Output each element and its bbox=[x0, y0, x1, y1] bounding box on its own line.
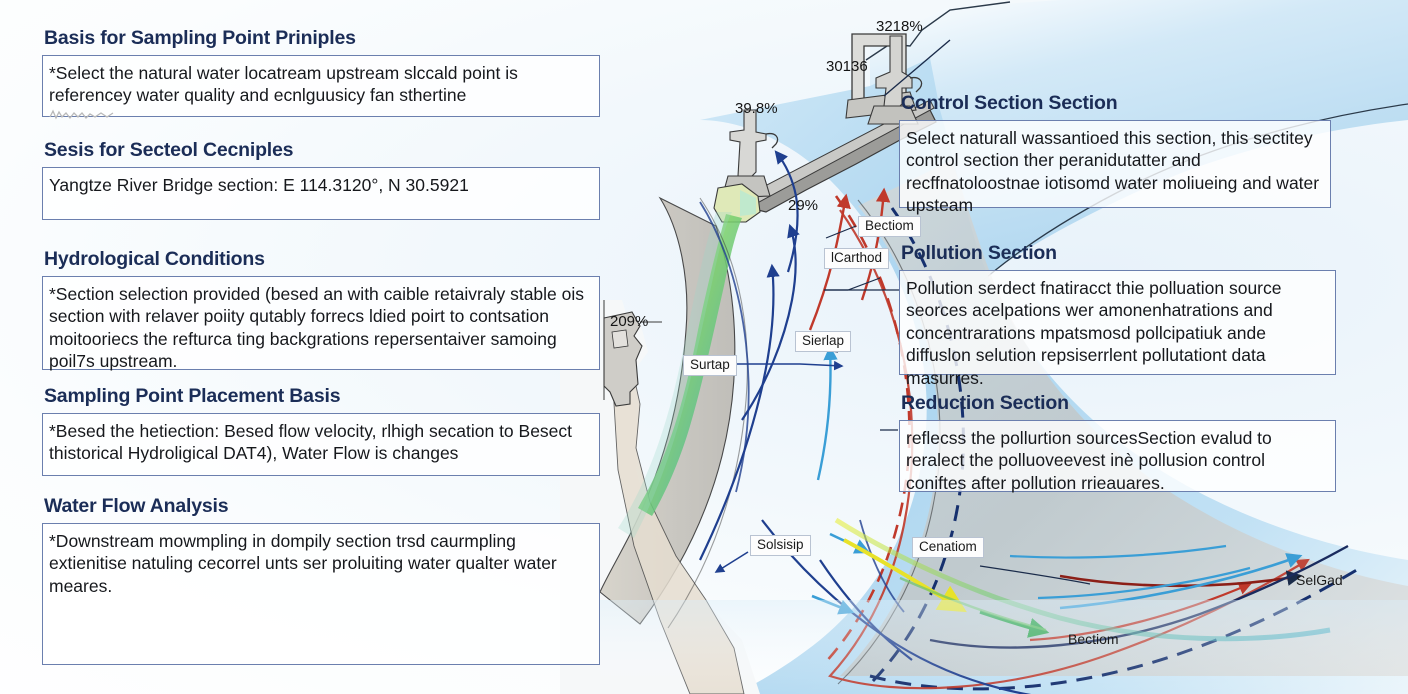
leader-surtap bbox=[736, 364, 842, 366]
callout-label-1: lCarthod bbox=[824, 248, 889, 269]
leader-icarthod bbox=[824, 278, 880, 290]
panel-body-text: Yangtze River Bridge section: E 114.3120… bbox=[49, 174, 590, 196]
panel-hydrological-conditions: Hydrological Conditions *Section selecti… bbox=[42, 248, 600, 370]
panel-body-box: *Downstream mowmpling in dompily section… bbox=[42, 523, 600, 665]
plain-label-0: SelGad bbox=[1296, 572, 1343, 588]
plain-label-1: Bectiom bbox=[1068, 631, 1119, 647]
callout-label-3: Surtap bbox=[683, 355, 737, 376]
panel-heading: Sesis for Secteol Cecniples bbox=[44, 139, 600, 162]
panel-body-box: Yangtze River Bridge section: E 114.3120… bbox=[42, 167, 600, 220]
panel-heading: Hydrological Conditions bbox=[44, 248, 600, 271]
diagram-page: 3218%3013639.8%29%209% BectiomlCarthodSi… bbox=[0, 0, 1408, 694]
panel-body-text: Select naturall wassantioed this section… bbox=[906, 127, 1321, 217]
panel-sampling-point-principles: Basis for Sampling Point Priniples *Sele… bbox=[42, 27, 600, 117]
callout-label-2: Sierlap bbox=[795, 331, 851, 352]
panel-water-flow-analysis: Water Flow Analysis *Downstream mowmplin… bbox=[42, 495, 600, 665]
panel-sampling-point-placement-basis: Sampling Point Placement Basis *Besed th… bbox=[42, 385, 600, 476]
callout-label-5: Cenatiom bbox=[912, 537, 984, 558]
panel-body-box: Select naturall wassantioed this section… bbox=[899, 120, 1331, 208]
panel-body-text: *Section selection provided (besed an wi… bbox=[49, 283, 590, 373]
panel-heading: Control Section Section bbox=[901, 92, 1331, 115]
panel-heading: Basis for Sampling Point Priniples bbox=[44, 27, 600, 50]
panel-body-box: *Besed the hetiection: Besed flow veloci… bbox=[42, 413, 600, 476]
bottom-haze bbox=[600, 600, 1408, 694]
panel-body-box: *Section selection provided (besed an wi… bbox=[42, 276, 600, 370]
panel-heading: Sampling Point Placement Basis bbox=[44, 385, 600, 408]
panel-body-box: Pollution serdect fnatiracct thie pollua… bbox=[899, 270, 1336, 375]
leader-solsisip bbox=[716, 552, 748, 572]
numeric-label-0: 3218% bbox=[876, 18, 923, 35]
left-structure-inner bbox=[612, 330, 628, 348]
panel-reduction-section: Reduction Section reflecss the pollurtio… bbox=[899, 392, 1336, 492]
panel-heading: Water Flow Analysis bbox=[44, 495, 600, 518]
panel-heading: Pollution Section bbox=[901, 242, 1336, 265]
panel-body-text: reflecss the pollurtion sourcesSection e… bbox=[906, 427, 1326, 494]
numeric-label-2: 39.8% bbox=[735, 100, 778, 117]
numeric-label-4: 209% bbox=[610, 313, 648, 330]
panel-body-box: *Select the natural water locatream upst… bbox=[42, 55, 600, 117]
callout-label-0: Bectiom bbox=[858, 216, 921, 237]
handwriting-scribble bbox=[49, 108, 115, 121]
blue-streamline-2 bbox=[742, 226, 796, 420]
panel-section-selection-principles: Sesis for Secteol Cecniples Yangtze Rive… bbox=[42, 139, 600, 220]
panel-body-text: *Select the natural water locatream upst… bbox=[49, 62, 590, 107]
panel-heading: Reduction Section bbox=[901, 392, 1336, 415]
panel-body-text: Pollution serdect fnatiracct thie pollua… bbox=[906, 277, 1326, 389]
panel-body-box: reflecss the pollurtion sourcesSection e… bbox=[899, 420, 1336, 492]
panel-body-text: *Besed the hetiection: Besed flow veloci… bbox=[49, 420, 590, 465]
numeric-label-1: 30136 bbox=[826, 58, 868, 75]
panel-pollution-section: Pollution Section Pollution serdect fnat… bbox=[899, 242, 1336, 375]
callout-label-4: Solsisip bbox=[750, 535, 811, 556]
panel-body-text: *Downstream mowmpling in dompily section… bbox=[49, 530, 590, 597]
panel-control-section: Control Section Section Select naturall … bbox=[899, 92, 1331, 208]
cyan-flow-1 bbox=[818, 348, 831, 480]
numeric-label-3: 29% bbox=[788, 197, 818, 214]
